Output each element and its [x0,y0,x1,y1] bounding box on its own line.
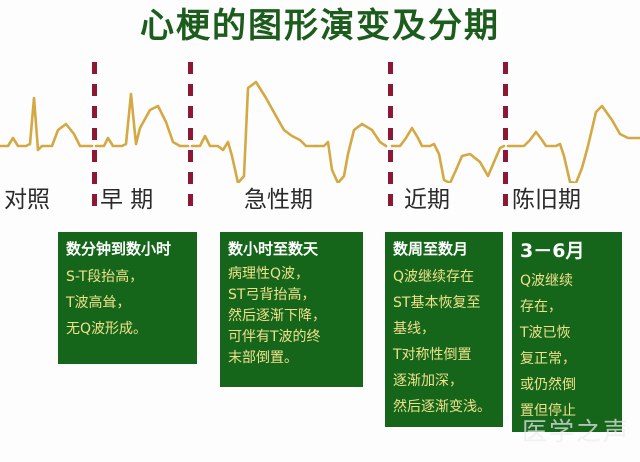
slide-canvas: 心梗的图形演变及分期 对照 早 期 急性期 近期 陈旧期 数分钟到数小时 S-T… [0,0,640,462]
stage-label-early: 早 期 [100,186,153,214]
info-box-early-header: 数分钟到数小时 [66,239,189,259]
info-line: 可伴有T波的终 [228,327,355,348]
ecg-trace-acute-2 [316,124,386,183]
divider-3 [388,62,393,210]
info-line: T波高耸， [66,290,189,316]
info-box-old: 3－6月 Q波继续 存在， T波已恢 复正常， 或仍然倒 置但停止 [512,232,622,432]
stage-label-recent: 近期 [404,186,450,214]
stage-label-old: 陈旧期 [512,186,581,214]
info-box-recent-header: 数周至数月 [393,239,495,259]
info-box-old-header: 3－6月 [520,239,614,263]
info-line: 无Q波形成。 [66,316,189,342]
info-box-recent-body: Q波继续存在 ST基本恢复至 基线， T对称性倒置 逐渐加深， 然后逐渐变浅。 [393,264,495,420]
ecg-trace-recent-1 [392,128,504,183]
info-line: 存在， [520,294,614,320]
divider-2 [188,62,193,210]
info-box-acute-body: 病理性Q波， ST弓背抬高， 然后逐渐下降， 可伴有T波的终 末部倒置。 [228,264,355,369]
stage-label-control: 对照 [4,186,50,214]
ecg-trace-early [96,94,188,146]
divider-4 [503,62,508,210]
info-line: 基线， [393,316,495,342]
info-line: Q波继续存在 [393,264,495,290]
stage-label-acute: 急性期 [244,186,313,214]
info-box-early-body: S-T段抬高， T波高耸， 无Q波形成。 [66,264,189,342]
info-line: 复正常， [520,346,614,372]
info-line: 置但停止 [520,398,614,424]
info-line: 逐渐加深， [393,368,495,394]
ecg-trace-acute-1 [192,82,316,183]
info-line: Q波继续 [520,268,614,294]
info-line: 病理性Q波， [228,264,355,285]
info-line: T对称性倒置 [393,342,495,368]
info-line: 然后逐渐下降， [228,306,355,327]
info-line: T波已恢 [520,320,614,346]
ecg-trace-control [0,98,92,150]
info-line: S-T段抬高， [66,264,189,290]
ecg-trace-old [508,106,640,183]
info-box-early: 数分钟到数小时 S-T段抬高， T波高耸， 无Q波形成。 [58,232,197,364]
info-line: 末部倒置。 [228,348,355,369]
info-box-acute-header: 数小时至数天 [228,239,355,259]
divider-1 [92,62,97,210]
info-line: ST基本恢复至 [393,290,495,316]
info-line: ST弓背抬高， [228,285,355,306]
info-line: 或仍然倒 [520,372,614,398]
page-title: 心梗的图形演变及分期 [0,4,640,48]
info-box-recent: 数周至数月 Q波继续存在 ST基本恢复至 基线， T对称性倒置 逐渐加深， 然后… [385,232,503,427]
info-line: 然后逐渐变浅。 [393,394,495,420]
info-box-old-body: Q波继续 存在， T波已恢 复正常， 或仍然倒 置但停止 [520,268,614,424]
info-box-acute: 数小时至数天 病理性Q波， ST弓背抬高， 然后逐渐下降， 可伴有T波的终 末部… [220,232,363,387]
